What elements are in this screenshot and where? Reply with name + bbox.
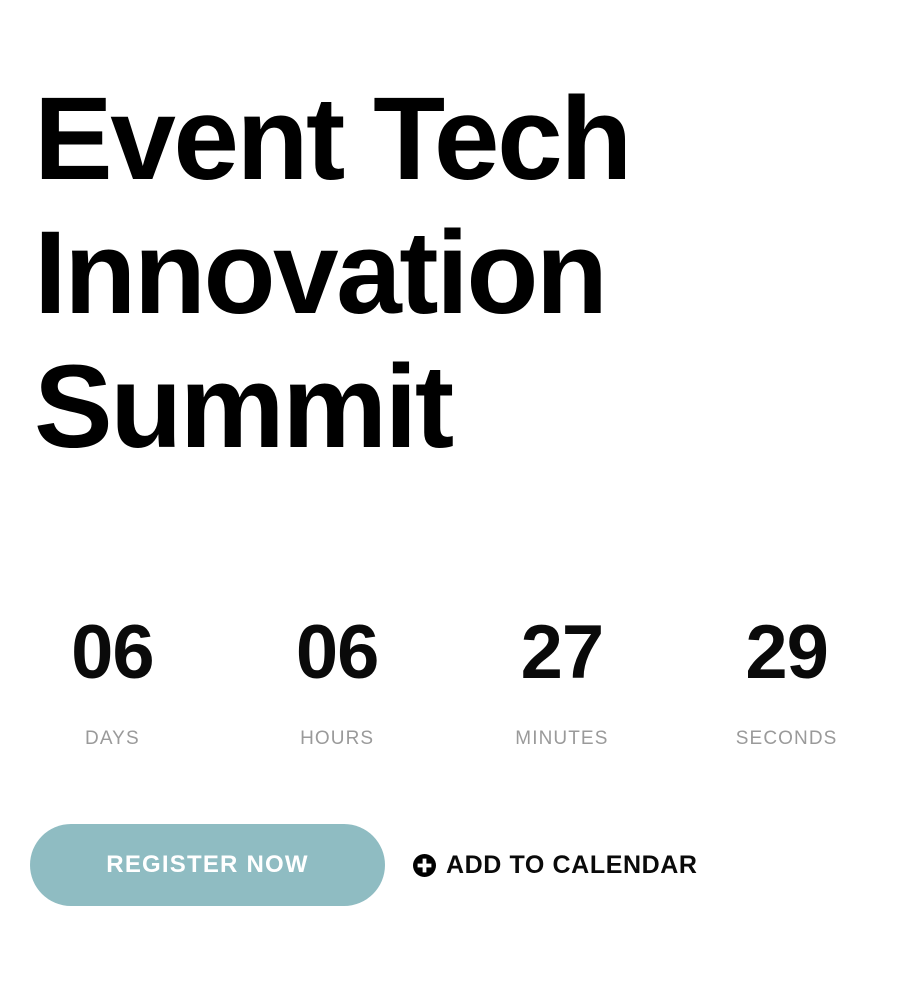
countdown-unit-days: 06 DAYS — [0, 612, 225, 749]
countdown-hours-value: 06 — [296, 612, 379, 694]
register-now-button[interactable]: REGISTER NOW — [30, 824, 385, 906]
countdown-seconds-value: 29 — [745, 612, 828, 694]
plus-circle-icon — [413, 854, 436, 877]
cta-row: REGISTER NOW ADD TO CALENDAR — [30, 824, 698, 906]
countdown-seconds-label: SECONDS — [736, 729, 838, 749]
countdown-days-value: 06 — [71, 612, 154, 694]
page-title: Event Tech Innovation Summit — [34, 72, 734, 474]
page-title-line-3: Summit — [34, 340, 734, 474]
add-to-calendar-label: ADD TO CALENDAR — [446, 851, 698, 880]
add-to-calendar-button[interactable]: ADD TO CALENDAR — [413, 824, 698, 906]
countdown-days-label: DAYS — [85, 729, 140, 749]
countdown-hours-label: HOURS — [300, 729, 374, 749]
countdown-unit-seconds: 29 SECONDS — [674, 612, 899, 749]
countdown-timer: 06 DAYS 06 HOURS 27 MINUTES 29 SECONDS — [0, 612, 899, 749]
countdown-unit-minutes: 27 MINUTES — [450, 612, 675, 749]
event-countdown-page: Event Tech Innovation Summit 06 DAYS 06 … — [0, 0, 899, 1000]
countdown-unit-hours: 06 HOURS — [225, 612, 450, 749]
page-title-line-1: Event Tech — [34, 72, 734, 206]
page-title-line-2: Innovation — [34, 206, 734, 340]
countdown-minutes-value: 27 — [521, 612, 604, 694]
countdown-minutes-label: MINUTES — [515, 729, 608, 749]
